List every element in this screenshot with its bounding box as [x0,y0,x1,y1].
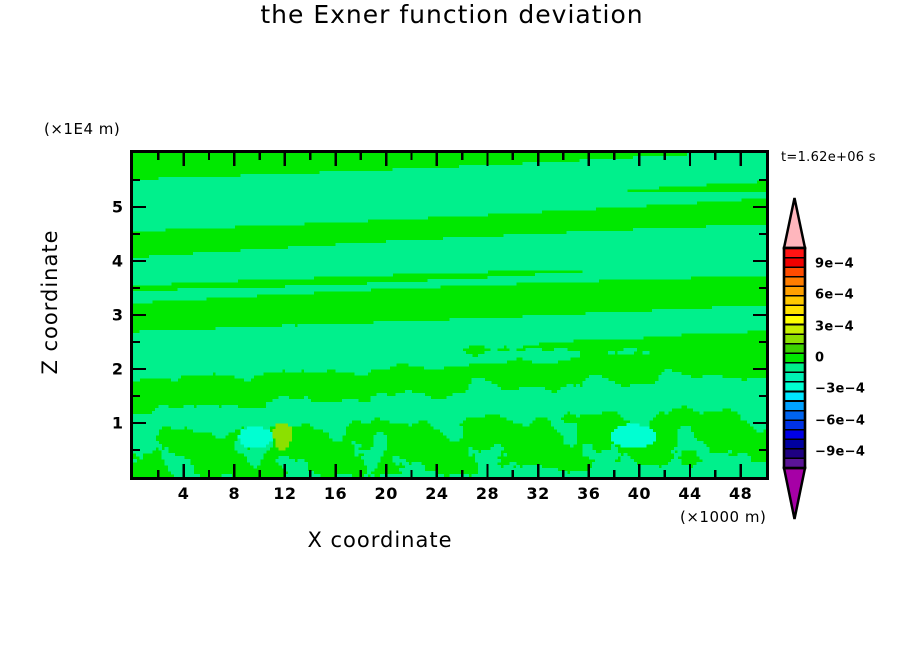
x-tick-label: 24 [425,484,448,503]
x-tick-label: 8 [228,484,240,503]
x-tick-label: 20 [375,484,398,503]
x-tick-label: 36 [577,484,600,503]
x-tick-label: 4 [178,484,190,503]
colorbar-tick-label: 6e−4 [815,288,854,303]
x-tick-label: 28 [476,484,499,503]
x-tick-label: 44 [678,484,701,503]
x-tick-label: 40 [628,484,651,503]
colorbar-tick-label: −6e−4 [815,413,865,428]
colorbar-tick-label: 0 [815,351,824,366]
y-tick-label: 5 [105,198,123,217]
y-tick-label: 4 [105,252,123,271]
x-tick-label: 16 [324,484,347,503]
y-tick-label: 1 [105,414,123,433]
contour-plot [0,0,904,654]
x-tick-label: 12 [273,484,296,503]
x-tick-label: 48 [729,484,752,503]
colorbar-tick-label: 3e−4 [815,319,854,334]
y-tick-label: 2 [105,360,123,379]
colorbar-tick-label: 9e−4 [815,256,854,271]
y-tick-label: 3 [105,306,123,325]
x-tick-label: 32 [526,484,549,503]
colorbar-tick-label: −9e−4 [815,445,865,460]
colorbar-tick-label: −3e−4 [815,382,865,397]
